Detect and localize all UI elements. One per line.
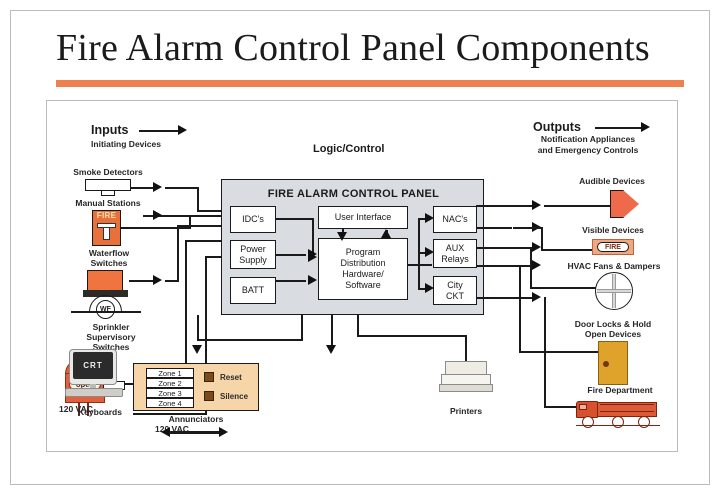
wire-kbd-arrow — [192, 345, 202, 354]
crt-monitor-icon: CRT — [69, 349, 127, 399]
wire-truck-v — [544, 297, 546, 407]
visible-devices-label: Visible Devices — [551, 225, 675, 236]
wire-sprinkler-d — [185, 240, 223, 242]
inputs-arrow-head — [178, 125, 187, 135]
logic-control-heading: Logic/Control — [313, 143, 385, 155]
wire-waterflow-d — [177, 225, 223, 227]
waterflow-marking: WF — [96, 300, 115, 319]
facp-wire-batt-a — [276, 280, 306, 282]
wire-horn — [544, 205, 612, 207]
outputs-arrow-line — [595, 127, 643, 129]
facp-module-power-supply[interactable]: Power Supply — [230, 240, 276, 269]
wire-pr-v1 — [357, 315, 359, 337]
keyboards-label: Keyboards — [55, 407, 145, 418]
inputs-heading: Inputs — [91, 123, 129, 137]
wire-smoke-d — [197, 210, 223, 212]
program-line1: Program — [346, 247, 381, 258]
smoke-detectors-label: Smoke Detectors — [53, 167, 163, 178]
facp-module-batt[interactable]: BATT — [230, 277, 276, 304]
facp-module-nac[interactable]: NAC's — [433, 206, 477, 233]
annunciators-arrow-right — [219, 427, 228, 437]
facp-title: FIRE ALARM CONTROL PANEL — [222, 188, 485, 200]
wire-out-aux1-arrow — [532, 242, 541, 252]
pull-station-fire-text: FIRE — [92, 211, 121, 220]
fire-department-label: Fire Department — [555, 385, 685, 396]
smoke-detector-icon — [85, 179, 131, 197]
printer-icon — [439, 361, 493, 393]
facp-wire-ui-up-arrow — [381, 229, 391, 238]
wire-out-nac2b — [513, 227, 543, 229]
facp-wire-city-arrow — [425, 283, 434, 293]
facp-wire-nac-arrow — [425, 213, 434, 223]
keyboard-icon[interactable] — [65, 388, 123, 397]
outputs-arrow-head — [641, 122, 650, 132]
wire-manual-a — [121, 227, 191, 229]
wire-out-city — [476, 297, 532, 299]
facp-wire-aux-arrow — [425, 247, 434, 257]
wire-bus-1 — [301, 315, 303, 339]
facp-module-aux-relays[interactable]: AUX Relays — [433, 239, 477, 268]
title-underline-rule — [56, 80, 684, 87]
wire-manual-d — [165, 215, 223, 217]
wire-out-aux1 — [476, 247, 532, 249]
door-locks-label-line1: Door Locks & Hold — [543, 319, 683, 330]
wire-smoke — [131, 187, 155, 189]
inputs-subheading: Initiating Devices — [61, 139, 191, 150]
facp-module-program[interactable]: Program Distribution Hardware/ Software — [318, 238, 408, 300]
wire-kbd-v — [197, 315, 199, 341]
annunciator-zone-2[interactable]: Zone 2 — [146, 378, 194, 388]
wire-waterflow-c — [177, 225, 179, 281]
wire-fan-h — [530, 287, 598, 289]
page-title: Fire Alarm Control Panel Components — [56, 26, 650, 70]
aux-line1: AUX — [446, 243, 465, 254]
aux-line2: Relays — [441, 254, 469, 265]
outputs-subheading-line1: Notification Appliances — [503, 134, 673, 145]
wire-smoke-arrow — [153, 182, 162, 192]
program-line3: Hardware/ — [342, 269, 384, 280]
facp-wire-out-main — [408, 264, 432, 266]
strobe-icon: FIRE — [592, 239, 634, 255]
wire-pr-h — [357, 335, 467, 337]
silence-button-label: Silence — [220, 392, 248, 401]
waterflow-label-line1: Waterflow — [59, 248, 159, 259]
facp-wire-ps-a — [276, 254, 306, 256]
wire-smoke-b — [165, 187, 199, 189]
outputs-subheading-line2: and Emergency Controls — [503, 145, 673, 156]
waterflow-switch-icon: WF — [83, 270, 129, 318]
facp-wire-idc-a — [276, 218, 314, 220]
wire-out-nac2 — [476, 227, 512, 229]
sprinkler-label-line2: Supervisory — [61, 332, 161, 343]
power-supply-line1: Power — [240, 244, 266, 255]
facp-module-city-ckt[interactable]: City CKT — [433, 276, 477, 305]
annunciator-panel: Zone 1 Zone 2 Zone 3 Zone 4 Reset Silenc… — [133, 363, 259, 411]
wire-strobe-v — [541, 227, 543, 251]
facp-wire-ui-down-arrow — [337, 232, 347, 241]
diagram-frame: Inputs Initiating Devices Logic/Control … — [46, 100, 678, 452]
city-line1: City — [447, 280, 463, 291]
wire-ann-arrow — [326, 345, 336, 354]
manual-pull-station-icon: FIRE — [92, 210, 121, 246]
audible-devices-label: Audible Devices — [547, 176, 677, 187]
program-line4: Software — [345, 280, 381, 291]
facp-module-user-interface[interactable]: User Interface — [318, 206, 408, 229]
strobe-fire-text: FIRE — [597, 242, 629, 252]
door-lock-icon — [598, 341, 628, 385]
wire-out-aux2-arrow — [532, 260, 541, 270]
wire-fan-v — [530, 247, 532, 289]
wire-out-nac1 — [476, 205, 536, 207]
wire-out-city-arrow — [532, 292, 541, 302]
wire-out-aux2 — [476, 265, 532, 267]
power-supply-line2: Supply — [239, 255, 267, 266]
wire-out-nac1-arrow — [532, 200, 541, 210]
wire-waterflow-arrow — [153, 275, 162, 285]
sprinkler-label-line1: Sprinkler — [61, 322, 161, 333]
fire-truck-icon — [576, 395, 660, 427]
printers-label: Printers — [429, 406, 503, 417]
wire-pr-v2 — [465, 335, 467, 363]
wire-manual-arrow — [153, 210, 162, 220]
annunciator-zone-3[interactable]: Zone 3 — [146, 388, 194, 398]
annunciator-zone-4[interactable]: Zone 4 — [146, 398, 194, 408]
manual-stations-label: Manual Stations — [49, 198, 167, 209]
program-line2: Distribution — [340, 258, 385, 269]
door-locks-label-line2: Open Devices — [543, 329, 683, 340]
fan-damper-icon — [595, 272, 633, 310]
inputs-arrow-line — [139, 130, 181, 132]
wire-door-h — [519, 351, 599, 353]
annunciators-arrow-bar — [169, 431, 221, 434]
slide-canvas: Fire Alarm Control Panel Components Inpu… — [0, 0, 720, 495]
horn-icon — [610, 190, 640, 218]
facp-module-idc[interactable]: IDC's — [230, 206, 276, 233]
fire-alarm-control-panel: FIRE ALARM CONTROL PANEL IDC's Power Sup… — [221, 179, 484, 315]
annunciators-label: Annunciators — [146, 414, 246, 425]
outputs-heading: Outputs — [533, 120, 581, 134]
wire-door-v — [519, 265, 521, 353]
reset-button-label: Reset — [220, 373, 242, 382]
reset-button[interactable] — [204, 372, 214, 382]
silence-button[interactable] — [204, 391, 214, 401]
hvac-label: HVAC Fans & Dampers — [541, 261, 687, 272]
city-line2: CKT — [446, 291, 464, 302]
facp-wire-batt-arrow — [308, 275, 317, 285]
wire-kbd-h — [197, 339, 303, 341]
waterflow-label-line2: Switches — [59, 258, 159, 269]
facp-wire-ps-arrow — [308, 249, 317, 259]
crt-screen-text: CRT — [73, 352, 113, 379]
wire-smoke-c — [197, 187, 199, 211]
annunciator-zone-1[interactable]: Zone 1 — [146, 368, 194, 378]
